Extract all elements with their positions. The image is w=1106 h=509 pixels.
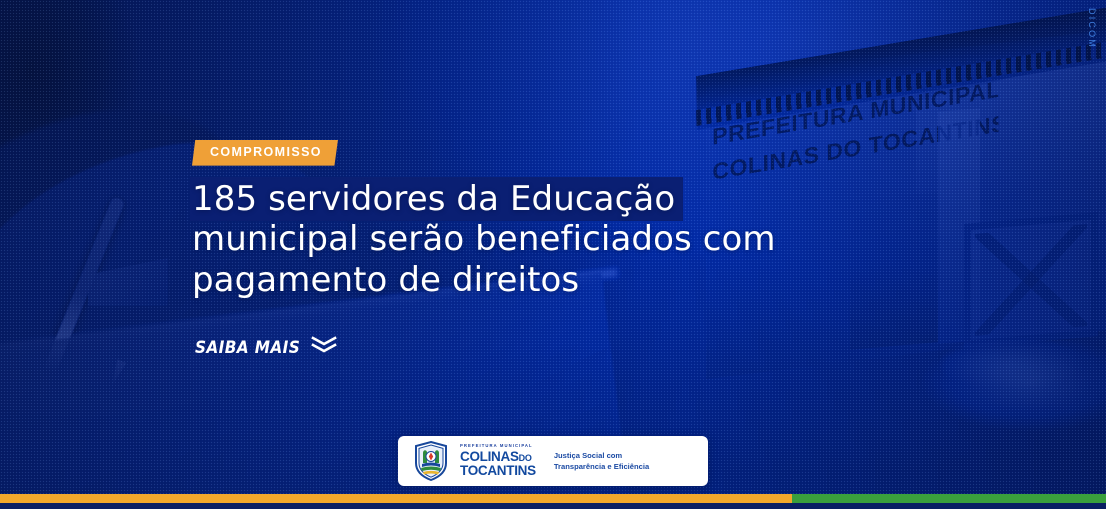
dicom-watermark: DICOM xyxy=(1087,8,1097,49)
brand-do: DO xyxy=(519,453,532,463)
brand-line-2: TOCANTINS xyxy=(460,464,536,478)
headline-line-3: pagamento de direitos xyxy=(192,260,579,300)
brand-tagline: Justiça Social com Transparência e Efici… xyxy=(554,450,649,473)
bar-segment-orange xyxy=(0,494,792,503)
saiba-mais-button[interactable]: SAIBA MAIS xyxy=(195,336,337,359)
bottom-edge-shadow xyxy=(0,503,1106,509)
bottom-color-bar xyxy=(0,494,1106,503)
tagline-line-2: Transparência e Eficiência xyxy=(554,461,649,472)
brand-wordmark: PREFEITURA MUNICIPAL COLINASDO TOCANTINS xyxy=(460,444,536,477)
status-badge: COMPROMISSO xyxy=(192,140,338,166)
headline-line-2: municipal serão beneficiados com xyxy=(192,219,776,259)
cta-word-mais: MAIS xyxy=(255,338,300,358)
municipal-coat-of-arms-icon xyxy=(414,441,448,481)
brand-colinas: COLINAS xyxy=(460,449,519,464)
double-chevron-down-icon[interactable] xyxy=(311,336,337,359)
cta-word-saiba: SAIBA xyxy=(195,338,249,358)
saiba-mais-label: SAIBA MAIS xyxy=(195,338,300,358)
brand-line-1: COLINASDO xyxy=(460,450,536,464)
logo-card: PREFEITURA MUNICIPAL COLINASDO TOCANTINS… xyxy=(398,436,708,486)
headline-block: COMPROMISSO 185 servidores da Educação m… xyxy=(192,140,812,300)
banner-stage: PREFEITURA MUNICIPAL DE COLINAS DO TOCAN… xyxy=(0,0,1106,509)
tagline-line-1: Justiça Social com xyxy=(554,450,649,461)
bar-segment-green xyxy=(792,494,1106,503)
page-title: 185 servidores da Educação municipal ser… xyxy=(192,179,812,300)
headline-line-1: 185 servidores da Educação xyxy=(192,177,675,221)
